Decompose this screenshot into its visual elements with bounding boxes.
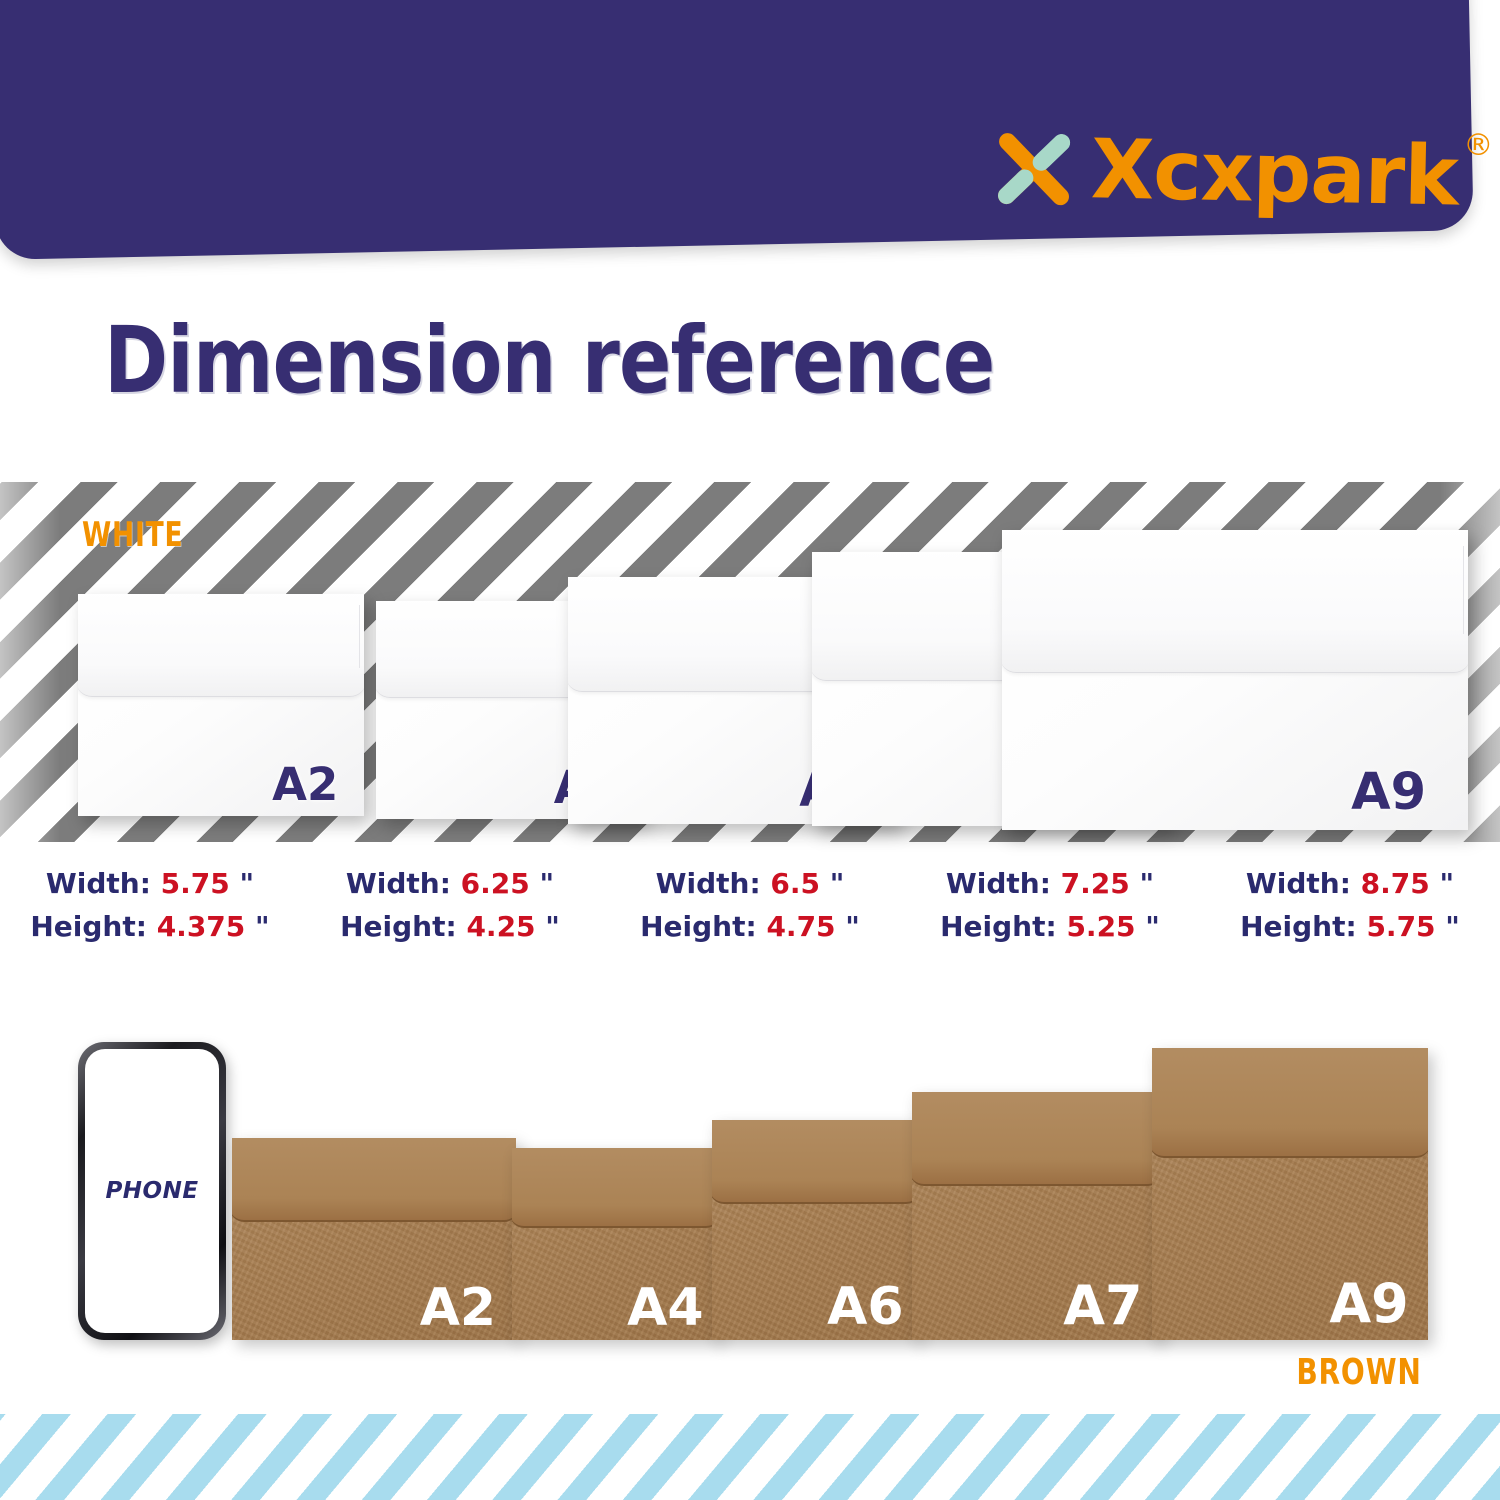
envelope-flap	[232, 1138, 516, 1222]
height-value: 4.375	[157, 910, 246, 943]
height-label: Height:	[30, 910, 147, 943]
unit-mark: "	[545, 910, 560, 943]
brown-envelope-a6: A6	[712, 1120, 918, 1340]
width-value: 8.75	[1361, 867, 1430, 900]
unit-mark: "	[540, 867, 555, 900]
brown-section-label: BROWN	[1297, 1352, 1422, 1393]
width-line: Width: 6.25 "	[300, 862, 600, 905]
envelope-flap	[912, 1092, 1160, 1186]
bottom-stripe-band	[0, 1414, 1500, 1500]
width-line: Width: 7.25 "	[900, 862, 1200, 905]
width-label: Width:	[656, 867, 761, 900]
unit-mark: "	[1440, 867, 1455, 900]
brown-envelope-a2: A2	[232, 1138, 516, 1340]
height-line: Height: 4.75 "	[600, 905, 900, 948]
width-label: Width:	[1246, 867, 1351, 900]
envelope-code: A9	[1329, 1277, 1408, 1331]
height-value: 5.25	[1066, 910, 1135, 943]
white-envelope-a9: A9	[1002, 530, 1468, 830]
brand-name-text: Xcxpark	[1090, 122, 1459, 224]
registered-mark: ®	[1463, 131, 1493, 162]
brand-logo: Xcxpark®	[996, 127, 1458, 218]
height-line: Height: 4.25 "	[300, 905, 600, 948]
height-label: Height:	[340, 910, 457, 943]
dimension-column-a2: Width: 5.75 " Height: 4.375 "	[0, 862, 300, 949]
height-label: Height:	[940, 910, 1057, 943]
envelope-code: A2	[420, 1282, 496, 1334]
width-value: 6.5	[770, 867, 820, 900]
unit-mark: "	[1145, 910, 1160, 943]
brown-envelopes-section: PHONE A2 A4 A6 A7 A9	[0, 1020, 1500, 1360]
brown-envelope-a4: A4	[512, 1148, 718, 1340]
height-line: Height: 5.75 "	[1200, 905, 1500, 948]
height-value: 5.75	[1366, 910, 1435, 943]
dimension-column-a9: Width: 8.75 " Height: 5.75 "	[1200, 862, 1500, 949]
unit-mark: "	[255, 910, 270, 943]
dimension-column-a7: Width: 7.25 " Height: 5.25 "	[900, 862, 1200, 949]
envelope-code: A7	[1063, 1279, 1142, 1333]
height-value: 4.75	[766, 910, 835, 943]
white-envelope-a2: A2	[78, 594, 364, 816]
unit-mark: "	[845, 910, 860, 943]
width-value: 6.25	[461, 867, 530, 900]
envelope-code: A9	[1351, 767, 1426, 818]
dimension-column-a6: Width: 6.5 " Height: 4.75 "	[600, 862, 900, 949]
phone-screen-label: PHONE	[105, 1178, 198, 1204]
unit-mark: "	[1140, 867, 1155, 900]
width-value: 5.75	[161, 867, 230, 900]
width-value: 7.25	[1061, 867, 1130, 900]
x-mark-icon	[997, 131, 1072, 206]
height-label: Height:	[1240, 910, 1357, 943]
brand-name: Xcxpark®	[1090, 129, 1458, 218]
unit-mark: "	[830, 867, 845, 900]
dimension-labels-row: Width: 5.75 " Height: 4.375 " Width: 6.2…	[0, 862, 1500, 949]
envelope-flap	[712, 1120, 918, 1204]
width-line: Width: 8.75 "	[1200, 862, 1500, 905]
brown-envelope-a7: A7	[912, 1092, 1160, 1340]
infographic-page: Xcxpark® Dimension reference WHITE A2 A4…	[0, 0, 1500, 1500]
envelope-code: A2	[272, 762, 338, 807]
envelope-flap	[78, 594, 364, 697]
brown-envelope-a9: A9	[1152, 1048, 1428, 1340]
unit-mark: "	[240, 867, 255, 900]
envelope-flap	[512, 1148, 718, 1228]
height-line: Height: 4.375 "	[0, 905, 300, 948]
width-label: Width:	[346, 867, 451, 900]
envelope-code: A4	[627, 1282, 703, 1334]
dimension-column-a4: Width: 6.25 " Height: 4.25 "	[300, 862, 600, 949]
envelope-flap	[1002, 530, 1468, 673]
page-title: Dimension reference	[104, 312, 994, 410]
height-value: 4.25	[466, 910, 535, 943]
height-label: Height:	[640, 910, 757, 943]
width-line: Width: 6.5 "	[600, 862, 900, 905]
envelope-code: A6	[827, 1281, 903, 1333]
envelope-flap	[1152, 1048, 1428, 1158]
phone-mockup: PHONE	[78, 1042, 226, 1340]
unit-mark: "	[1445, 910, 1460, 943]
height-line: Height: 5.25 "	[900, 905, 1200, 948]
width-label: Width:	[946, 867, 1051, 900]
white-section-label: WHITE	[82, 515, 183, 555]
width-label: Width:	[46, 867, 151, 900]
phone-screen: PHONE	[85, 1049, 219, 1333]
width-line: Width: 5.75 "	[0, 862, 300, 905]
